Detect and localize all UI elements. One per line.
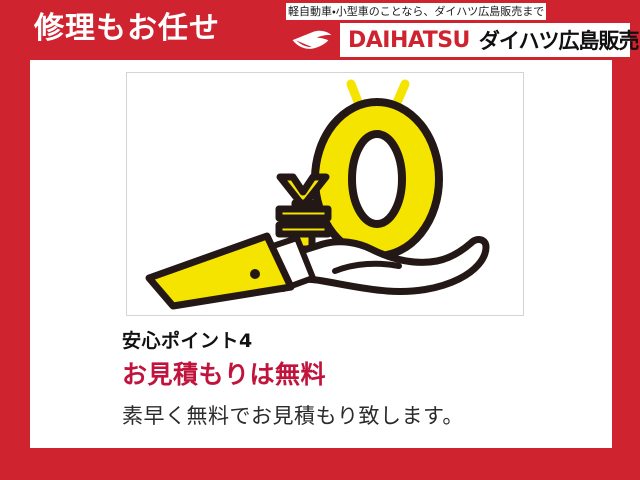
daihatsu-d-emblem-icon — [284, 23, 340, 57]
yen-symbol-glyph — [279, 177, 328, 249]
caption-block: 安心ポイント4 お見積もりは無料 素早く無料でお見積もり致します。 — [122, 328, 592, 430]
caption-title: お見積もりは無料 — [122, 359, 592, 391]
poster-root: 修理もお任せ 軽自動車・小型車のことなら、ダイハツ広島販売まで DAIHATSU… — [0, 0, 640, 480]
brand-tagline: 軽自動車・小型車のことなら、ダイハツ広島販売まで — [286, 3, 546, 20]
hand-illustration — [149, 236, 486, 306]
header-band: 修理もお任せ 軽自動車・小型車のことなら、ダイハツ広島販売まで DAIHATSU… — [0, 0, 640, 60]
header-headline: 修理もお任せ — [34, 10, 220, 48]
illustration-frame — [126, 72, 524, 316]
caption-eyebrow: 安心ポイント4 — [122, 328, 592, 354]
content-panel: 安心ポイント4 お見積もりは無料 素早く無料でお見積もり致します。 — [30, 60, 612, 448]
brand-wordmark: DAIHATSU — [348, 28, 470, 53]
brand-bar: DAIHATSU ダイハツ広島販売 — [284, 23, 630, 57]
zero-glyph — [315, 102, 439, 256]
brand-dealer-name: ダイハツ広島販売 — [479, 25, 639, 55]
hand-holding-yen-zero-icon — [127, 73, 523, 315]
caption-body: 素早く無料でお見積もり致します。 — [122, 402, 592, 430]
brand-lockup: 軽自動車・小型車のことなら、ダイハツ広島販売まで DAIHATSU ダイハツ広島… — [284, 3, 630, 57]
